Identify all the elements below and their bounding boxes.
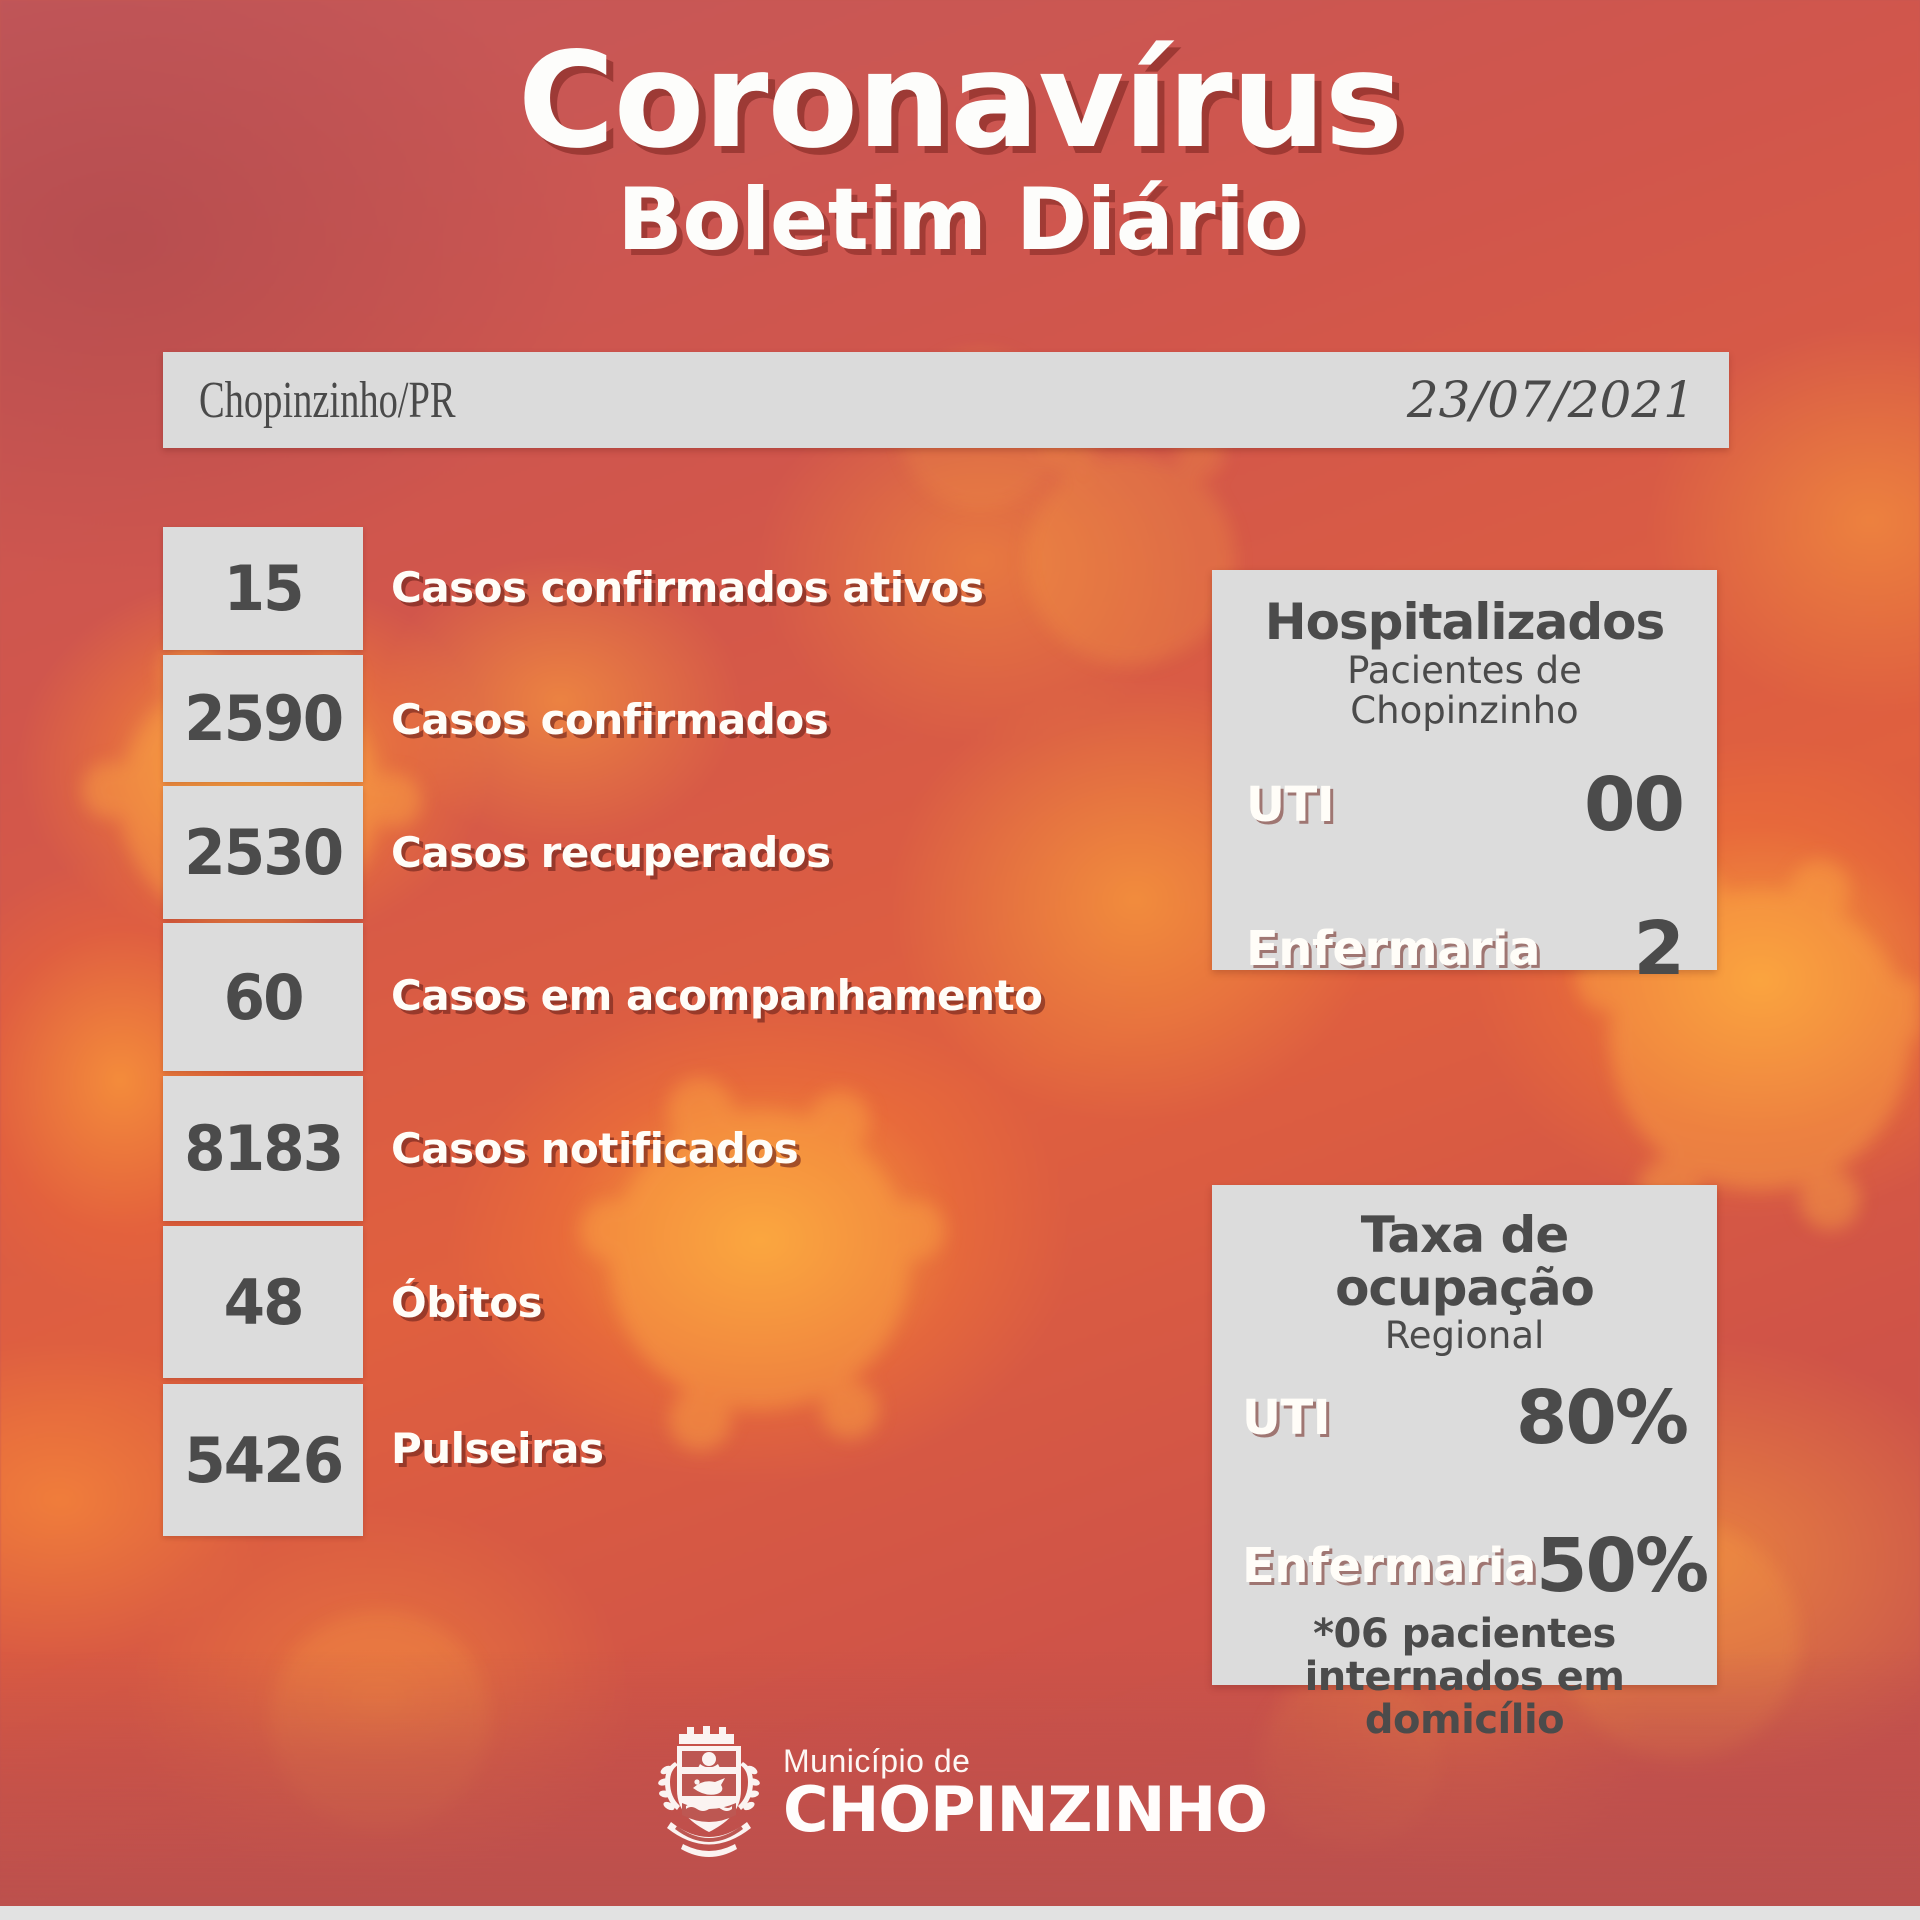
stat-value-box: 15 [163, 527, 363, 650]
page-subtitle: Boletim Diário [0, 175, 1920, 265]
date-label: 23/07/2021 [1407, 371, 1695, 429]
occupancy-icu-row: UTI 80% [1232, 1375, 1697, 1461]
list-item: 60 Casos em acompanhamento [163, 923, 363, 1071]
stat-value: 48 [224, 1266, 303, 1339]
hospitalized-ward-row: Enfermaria 2 [1236, 906, 1693, 992]
stat-label: Casos confirmados ativos [391, 563, 983, 612]
hospitalized-icu-label: UTI [1246, 777, 1334, 833]
occupancy-ward-row: Enfermaria 50% [1232, 1523, 1697, 1609]
occupancy-title: Taxa de ocupação [1232, 1209, 1697, 1314]
hospitalized-title: Hospitalizados [1236, 596, 1693, 649]
stat-value: 2590 [184, 682, 342, 755]
occupancy-rate-panel: Taxa de ocupação Regional UTI 80% Enferm… [1212, 1185, 1717, 1685]
poster-title-block: Coronavírus Boletim Diário [0, 34, 1920, 265]
location-date-bar: Chopinzinho/PR 23/07/2021 [163, 352, 1729, 448]
stat-value: 15 [224, 552, 303, 625]
stat-value-box: 2530 [163, 786, 363, 919]
list-item: 8183 Casos notificados [163, 1076, 363, 1221]
occupancy-ward-value: 50% [1536, 1523, 1707, 1609]
bottom-strip [0, 1906, 1920, 1920]
list-item: 2530 Casos recuperados [163, 786, 363, 919]
stat-label: Pulseiras [391, 1424, 604, 1473]
hospitalized-icu-row: UTI 00 [1236, 762, 1693, 848]
stat-value: 8183 [184, 1112, 342, 1185]
stat-value-box: 48 [163, 1226, 363, 1378]
stat-label: Casos notificados [391, 1124, 798, 1173]
occupancy-ward-label: Enfermaria [1242, 1538, 1536, 1594]
occupancy-icu-label: UTI [1242, 1390, 1330, 1446]
list-item: 5426 Pulseiras [163, 1384, 363, 1536]
hospitalized-icu-value: 00 [1584, 762, 1683, 848]
list-item: 48 Óbitos [163, 1226, 363, 1378]
stat-value: 60 [224, 961, 303, 1034]
hospitalized-ward-value: 2 [1634, 906, 1684, 992]
city-label: Chopinzinho/PR [199, 371, 456, 430]
hospitalized-ward-label: Enfermaria [1246, 921, 1540, 977]
hospitalized-panel: Hospitalizados Pacientes de Chopinzinho … [1212, 570, 1717, 970]
stat-value-box: 60 [163, 923, 363, 1071]
stat-label: Óbitos [391, 1278, 542, 1327]
stat-value: 2530 [184, 816, 342, 889]
stat-value-box: 2590 [163, 655, 363, 782]
covid-bulletin-poster: Coronavírus Boletim Diário Chopinzinho/P… [0, 0, 1920, 1920]
statistics-list: 15 Casos confirmados ativos 2590 Casos c… [163, 527, 363, 1536]
brand-text: Município de CHOPINZINHO [783, 1745, 1267, 1841]
footer-logo: Município de CHOPINZINHO [0, 1718, 1920, 1868]
occupancy-icu-value: 80% [1516, 1375, 1687, 1461]
stat-value-box: 5426 [163, 1384, 363, 1536]
brand-name: CHOPINZINHO [783, 1779, 1267, 1841]
coat-of-arms-icon [653, 1718, 765, 1868]
page-title: Coronavírus [0, 34, 1920, 169]
list-item: 2590 Casos confirmados [163, 655, 363, 782]
hospitalized-subtitle: Pacientes de Chopinzinho [1236, 651, 1693, 732]
stat-label: Casos confirmados [391, 695, 828, 744]
list-item: 15 Casos confirmados ativos [163, 527, 363, 650]
occupancy-subtitle: Regional [1232, 1316, 1697, 1357]
stat-label: Casos recuperados [391, 828, 831, 877]
stat-value: 5426 [184, 1424, 342, 1497]
stat-value-box: 8183 [163, 1076, 363, 1221]
stat-label: Casos em acompanhamento [391, 971, 1043, 1020]
